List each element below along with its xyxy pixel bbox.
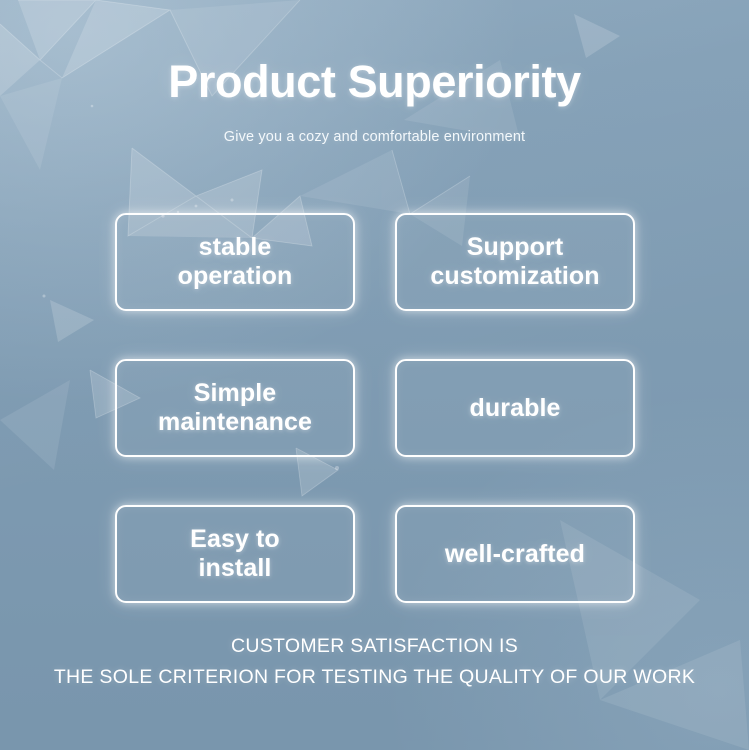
footer-slogan-line-1: CUSTOMER SATISFACTION IS xyxy=(0,631,749,661)
feature-card-well-crafted[interactable]: well-crafted xyxy=(395,505,635,603)
page-title: Product Superiority xyxy=(0,58,749,107)
page-subtitle: Give you a cozy and comfortable environm… xyxy=(0,129,749,145)
feature-card-label: Simple maintenance xyxy=(150,379,320,437)
product-superiority-poster: Product Superiority Give you a cozy and … xyxy=(0,0,749,750)
poster-footer: CUSTOMER SATISFACTION IS THE SOLE CRITER… xyxy=(0,631,749,692)
feature-card-label: well-crafted xyxy=(437,540,593,569)
feature-card-grid: stable operation Support customization S… xyxy=(115,213,635,603)
feature-card-support-customization[interactable]: Support customization xyxy=(395,213,635,311)
feature-card-easy-to-install[interactable]: Easy to install xyxy=(115,505,355,603)
feature-card-stable-operation[interactable]: stable operation xyxy=(115,213,355,311)
feature-card-simple-maintenance[interactable]: Simple maintenance xyxy=(115,359,355,457)
feature-card-label: Support customization xyxy=(422,233,607,291)
poster-header: Product Superiority Give you a cozy and … xyxy=(0,58,749,145)
feature-card-label: stable operation xyxy=(170,233,301,291)
feature-card-durable[interactable]: durable xyxy=(395,359,635,457)
feature-card-label: Easy to install xyxy=(182,525,288,583)
feature-card-label: durable xyxy=(462,394,569,423)
footer-slogan-line-2: THE SOLE CRITERION FOR TESTING THE QUALI… xyxy=(0,662,749,692)
